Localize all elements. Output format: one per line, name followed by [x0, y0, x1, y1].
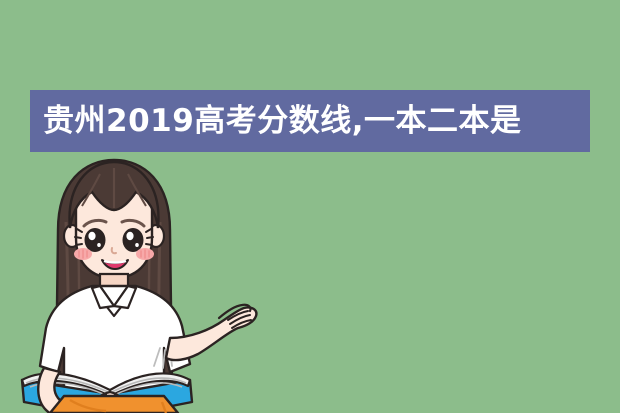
article-banner: 贵州2019高考分数线,一本二本是 — [0, 0, 620, 413]
title-bar: 贵州2019高考分数线,一本二本是 — [30, 90, 590, 152]
skirt-shape — [50, 396, 178, 413]
student-girl-illustration — [14, 152, 274, 413]
page-title: 贵州2019高考分数线,一本二本是 — [30, 106, 522, 137]
